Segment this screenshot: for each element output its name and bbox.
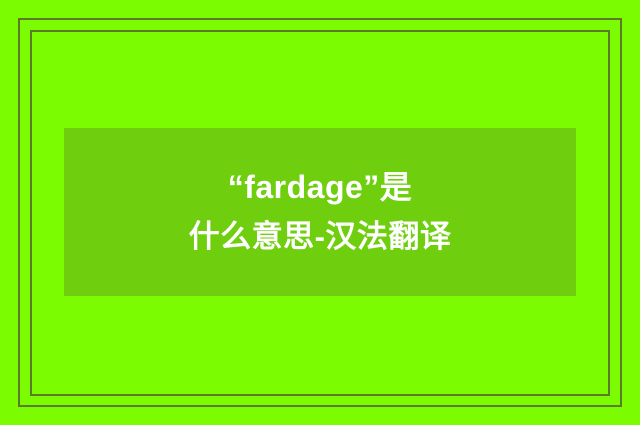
- title-panel: “fardage”是 什么意思-汉法翻译: [64, 128, 576, 296]
- title-line-1: “fardage”是: [228, 162, 413, 213]
- title-line-2: 什么意思-汉法翻译: [189, 213, 452, 262]
- poster-canvas: “fardage”是 什么意思-汉法翻译: [0, 0, 640, 425]
